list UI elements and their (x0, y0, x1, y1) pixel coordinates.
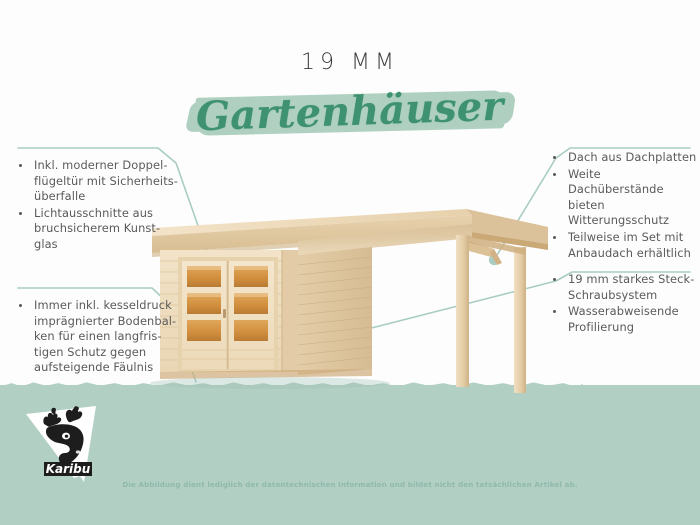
double-door[interactable] (178, 257, 278, 372)
logo-brand-text: Karibu (46, 462, 91, 476)
callout-item: Immer inkl. kesseldruck imprägnierter Bo… (14, 298, 180, 376)
callout-item: Inkl. moderner Doppel-flügeltür mit Sich… (14, 158, 180, 205)
house-ground-shadow (150, 377, 390, 389)
door-glass-pane (234, 320, 268, 341)
callout-item: Wasserabweisende Profilierung (548, 304, 700, 335)
callout-list: Immer inkl. kesseldruck imprägnierter Bo… (14, 298, 180, 376)
canopy-post-rear (514, 247, 526, 393)
callout-door-features: Inkl. moderner Doppel-flügeltür mit Sich… (14, 158, 180, 254)
callout-list: Inkl. moderner Doppel-flügeltür mit Sich… (14, 158, 180, 253)
canopy-supports (456, 235, 526, 393)
callout-item: Teilweise im Set mit Anbaudach erhältlic… (548, 230, 700, 261)
side-wall-block (298, 247, 372, 375)
callout-item: Lichtausschnitte aus bruchsicherem Kunst… (14, 206, 180, 253)
disclaimer-text: Die Abbildung dient lediglich der datent… (0, 480, 700, 489)
wall-corner-post (282, 250, 298, 372)
canopy-post-front (456, 235, 469, 387)
callout-roof-features: Dach aus Dachplatten Weite Dachüberständ… (548, 150, 700, 262)
garden-house-illustration (150, 205, 550, 405)
page-title: Gartenhäuser (196, 81, 505, 144)
deer-pupil (65, 435, 68, 438)
callout-list: 19 mm starkes Steck-Schraubsystem Wasser… (548, 272, 700, 335)
callout-item: Dach aus Dachplatten (548, 150, 700, 166)
callout-item: Weite Dachüberstände bieten Witterungssc… (548, 167, 700, 229)
callout-item: 19 mm starkes Steck-Schraubsystem (548, 272, 700, 303)
callout-foundation-features: Immer inkl. kesseldruck imprägnierter Bo… (14, 298, 180, 377)
door-handle-icon[interactable] (223, 309, 226, 318)
door-glass-pane (187, 320, 221, 341)
poster-canvas: 19 MM Gartenhäuser (0, 0, 700, 525)
callout-wall-features: 19 mm starkes Steck-Schraubsystem Wasser… (548, 272, 700, 336)
canopy-brace-lower (490, 249, 502, 265)
page-title-wrap: Gartenhäuser (0, 86, 700, 142)
callout-list: Dach aus Dachplatten Weite Dachüberständ… (548, 150, 700, 261)
karibu-logo[interactable]: Karibu (22, 404, 110, 484)
deer-nose (76, 450, 80, 453)
page-kicker: 19 MM (0, 50, 700, 75)
